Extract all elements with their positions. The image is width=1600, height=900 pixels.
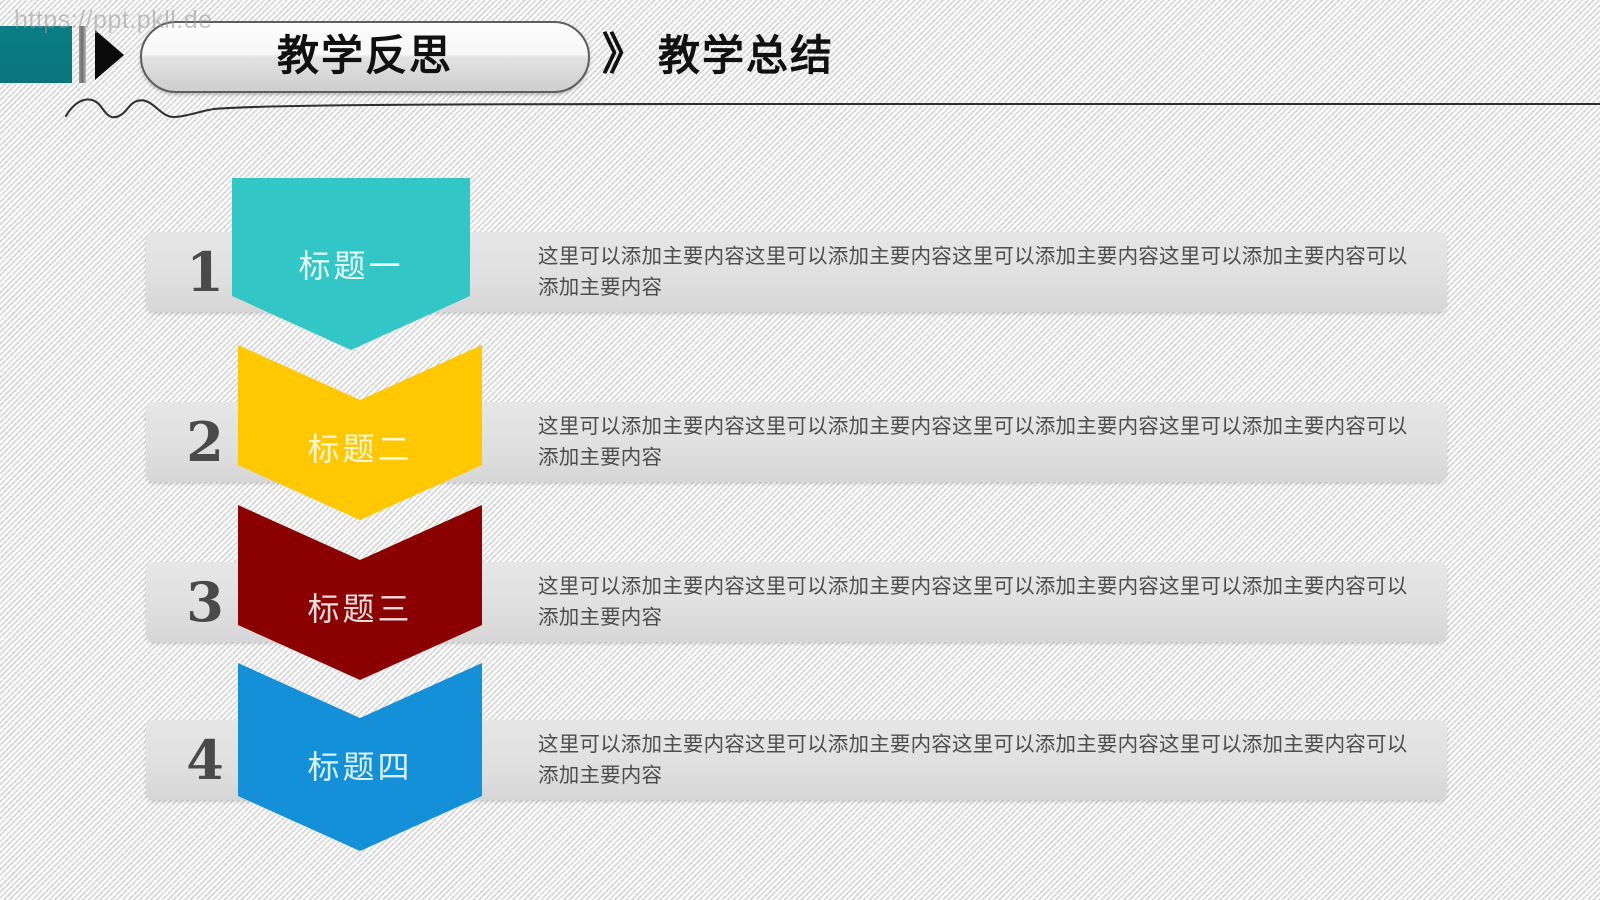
row-number: 2 [170,402,240,482]
watermark-text: https://ppt.pkll.de [14,6,213,35]
chevron-shape-2 [238,345,482,520]
row-body-text: 这里可以添加主要内容这里可以添加主要内容这里可以添加主要内容这里可以添加主要内容… [538,562,1418,642]
row-number: 3 [170,562,240,642]
content-rows: 1 这里可以添加主要内容这里可以添加主要内容这里可以添加主要内容这里可以添加主要… [0,0,1600,900]
chevron-banner-2[interactable]: 标题二 [238,345,482,520]
row-number: 1 [170,232,240,312]
chevron-banner-4[interactable]: 标题四 [238,663,482,851]
chevron-shape-1 [232,178,470,350]
chevron-shape-4 [238,663,482,851]
page-title: 教学反思 [277,35,453,80]
slide-header: 教学反思 》 教学总结 [0,0,1600,120]
play-triangle-icon [95,30,124,80]
row-body-text: 这里可以添加主要内容这里可以添加主要内容这里可以添加主要内容这里可以添加主要内容… [538,402,1418,482]
subtitle-group: 》 教学总结 [602,21,834,93]
row-number: 4 [170,720,240,800]
chevron-banner-1[interactable]: 标题一 [232,178,470,350]
double-chevron-icon: 》 [602,33,646,82]
slide-canvas: https://ppt.pkll.de 教学反思 》 教学总结 1 这里可以添加… [0,0,1600,900]
row-body-text: 这里可以添加主要内容这里可以添加主要内容这里可以添加主要内容这里可以添加主要内容… [538,232,1418,312]
chevron-banner-3[interactable]: 标题三 [238,505,482,680]
chevron-shape-3 [238,505,482,680]
row-body-text: 这里可以添加主要内容这里可以添加主要内容这里可以添加主要内容这里可以添加主要内容… [538,720,1418,800]
page-subtitle: 教学总结 [658,35,834,80]
